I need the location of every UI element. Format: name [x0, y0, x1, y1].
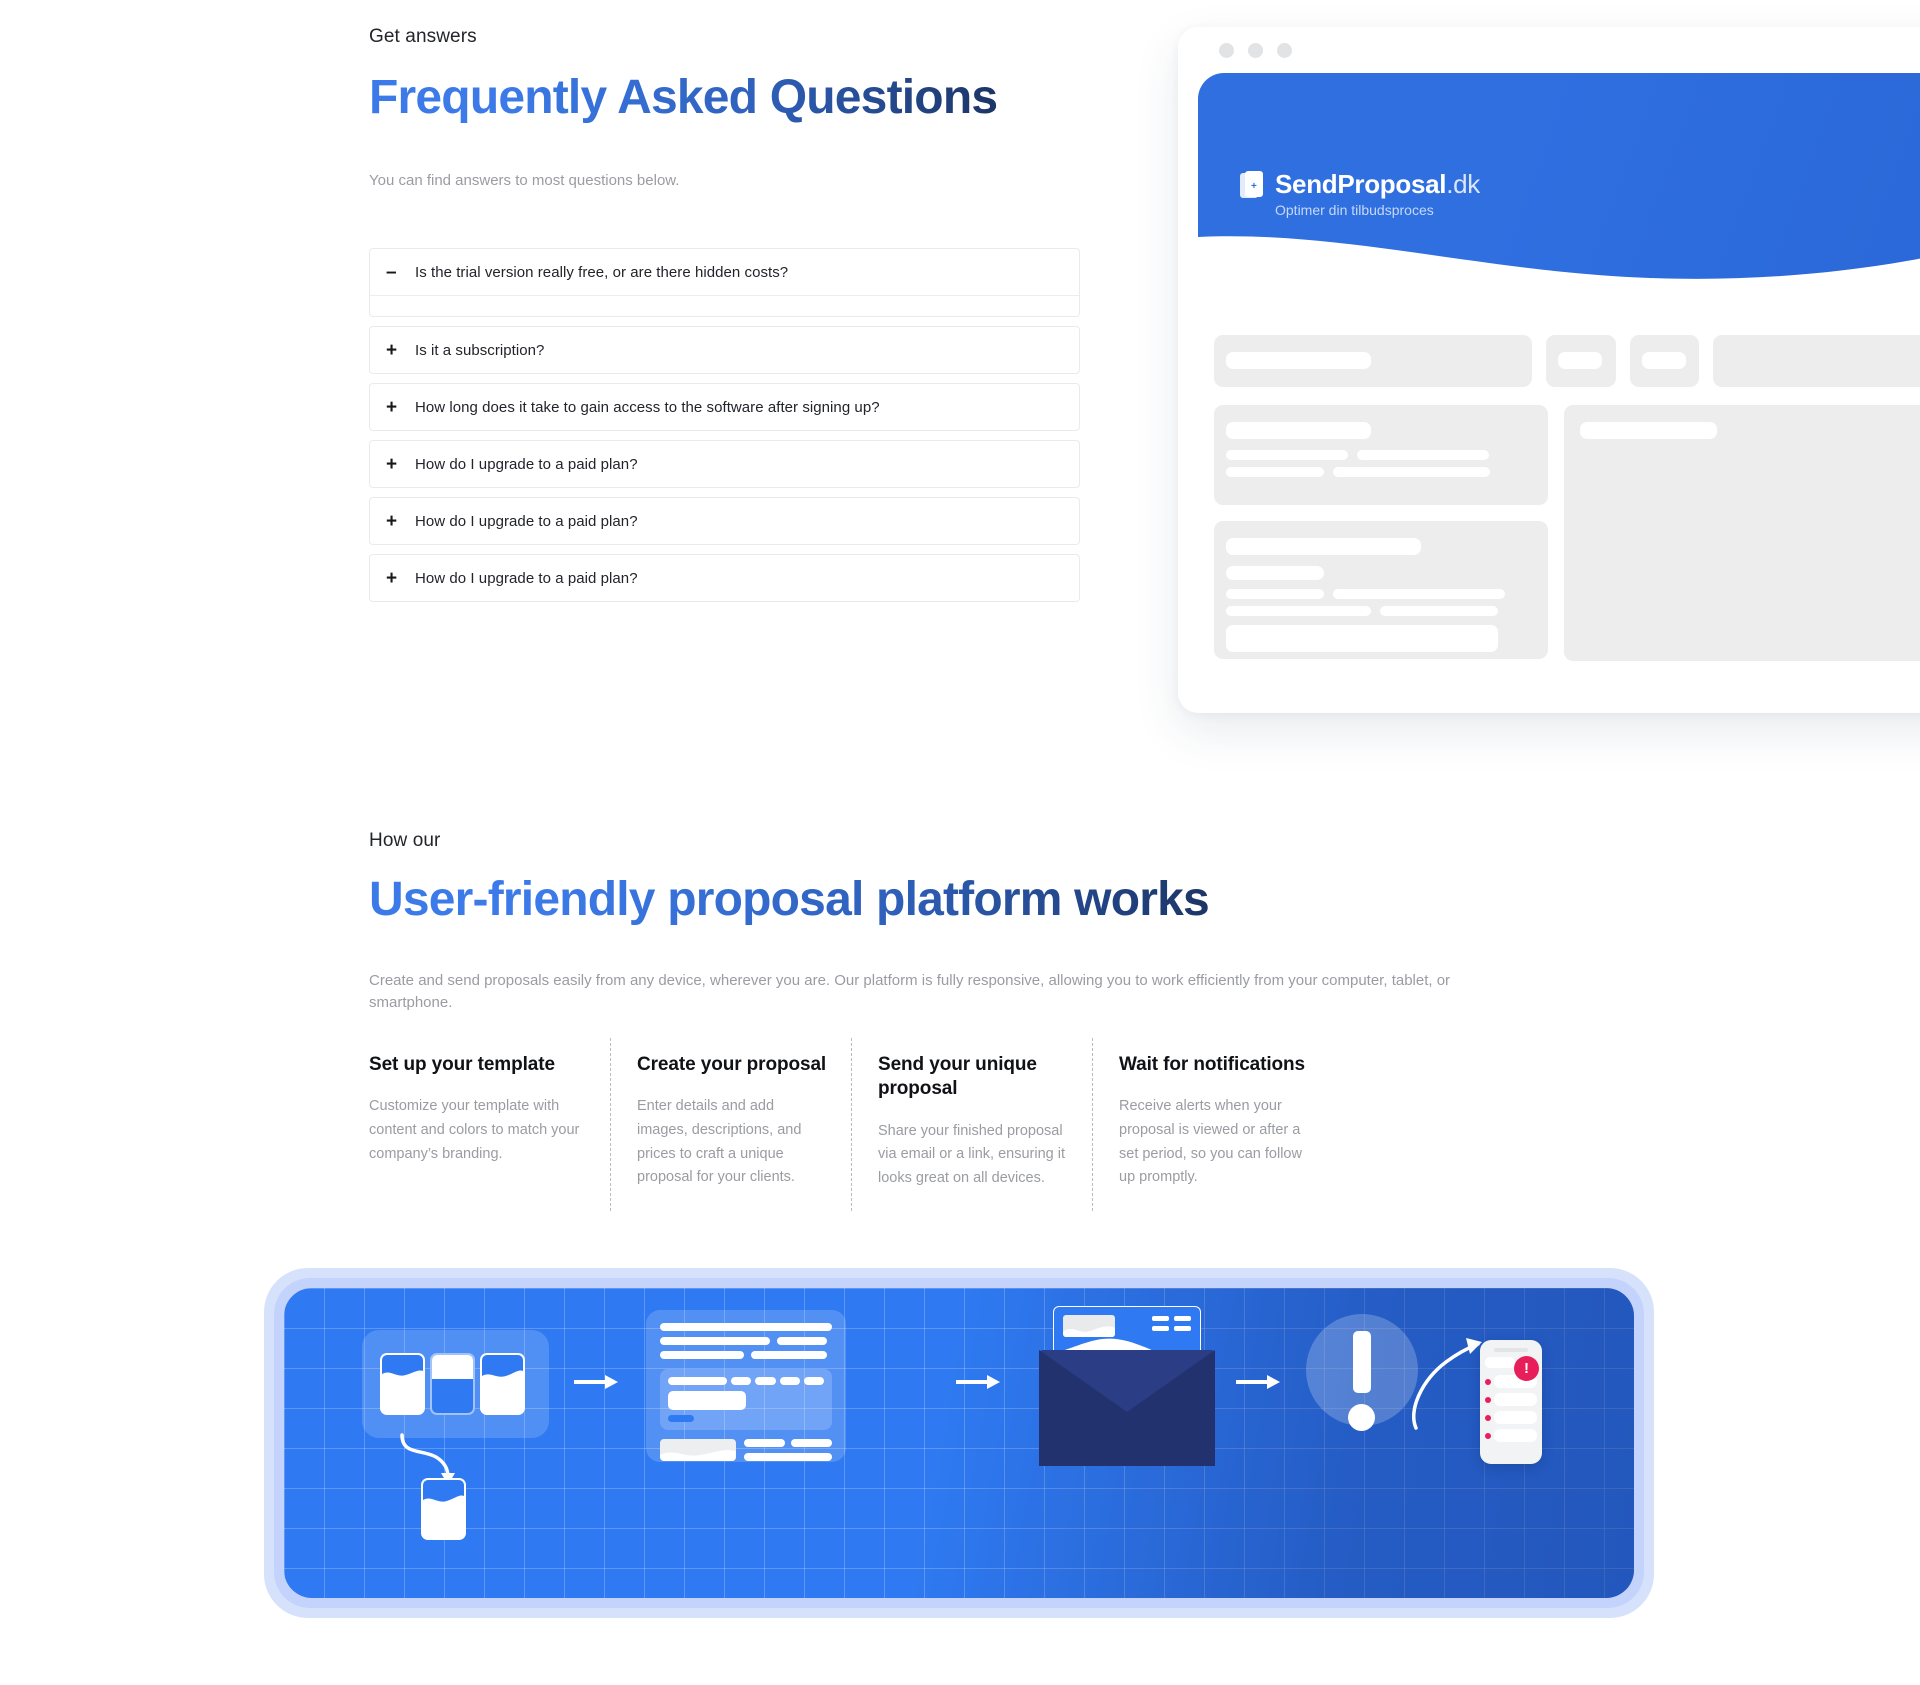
phone-header-bar: [1494, 1348, 1528, 1352]
window-dot-icon: [1277, 43, 1292, 58]
skeleton-search-box: [1214, 335, 1532, 387]
faq-item[interactable]: + How do I upgrade to a paid plan?: [369, 497, 1080, 545]
letter-image-thumb: [1063, 1315, 1115, 1337]
arrow-right-icon: [956, 1374, 1000, 1390]
step-column: Send your unique proposal Share your fin…: [851, 1053, 1092, 1191]
brand-tagline: Optimer din tilbudsproces: [1275, 202, 1480, 218]
faq-question-row[interactable]: + How do I upgrade to a paid plan?: [370, 555, 1079, 601]
faq-question-row[interactable]: + Is it a subscription?: [370, 327, 1079, 373]
how-subtitle: Create and send proposals easily from an…: [369, 970, 1529, 1014]
proposal-editor-card: [646, 1310, 846, 1462]
faq-answer-panel: [370, 295, 1079, 316]
template-card-icon: [380, 1353, 425, 1415]
workflow-stage: !: [284, 1288, 1634, 1598]
step-title: Create your proposal: [637, 1053, 827, 1077]
how-eyebrow: How our: [369, 830, 440, 852]
faq-accordion: – Is the trial version really free, or a…: [369, 248, 1080, 611]
skeleton-button: [1630, 335, 1700, 387]
faq-section: Get answers Frequently Asked Questions Y…: [0, 0, 1920, 760]
step-body: Share your finished proposal via email o…: [878, 1120, 1068, 1191]
faq-subtitle: You can find answers to most questions b…: [369, 172, 679, 189]
editor-action-button: [668, 1415, 694, 1422]
faq-question-row[interactable]: + How do I upgrade to a paid plan?: [370, 498, 1079, 544]
alert-badge-icon: !: [1514, 1356, 1539, 1381]
browser-mockup: + SendProposal.dk Optimer din tilbudspro…: [1178, 27, 1920, 713]
banner-canvas: !: [284, 1288, 1634, 1598]
window-dot-icon: [1219, 43, 1234, 58]
step-title: Set up your template: [369, 1053, 586, 1077]
envelope-illustration: [1039, 1306, 1215, 1466]
faq-item[interactable]: – Is the trial version really free, or a…: [369, 248, 1080, 317]
faq-question-label: How do I upgrade to a paid plan?: [415, 570, 638, 587]
step-column: Wait for notifications Receive alerts wh…: [1092, 1053, 1333, 1191]
app-content-skeleton: [1178, 293, 1920, 661]
faq-question-label: Is it a subscription?: [415, 342, 544, 359]
notification-dot-icon: [1485, 1379, 1491, 1385]
arrow-right-icon: [1236, 1374, 1280, 1390]
faq-question-label: How long does it take to gain access to …: [415, 399, 880, 416]
notification-phone: !: [1480, 1340, 1542, 1464]
notification-row: [1485, 1429, 1537, 1442]
plus-icon[interactable]: +: [386, 512, 404, 531]
banner-frame-inner: !: [274, 1278, 1644, 1608]
faq-question-row[interactable]: + How do I upgrade to a paid plan?: [370, 441, 1079, 487]
notification-dot-icon: [1485, 1415, 1491, 1421]
step-body: Receive alerts when your proposal is vie…: [1119, 1095, 1309, 1190]
skeleton-left-column: [1214, 405, 1548, 661]
plus-icon[interactable]: +: [386, 569, 404, 588]
faq-question-row[interactable]: – Is the trial version really free, or a…: [370, 249, 1079, 295]
skeleton-main-row: [1214, 405, 1920, 661]
envelope-flap: [1039, 1350, 1215, 1466]
notification-dot-icon: [1485, 1397, 1491, 1403]
document-plus-icon: +: [1240, 171, 1265, 200]
step-column: Create your proposal Enter details and a…: [610, 1053, 851, 1191]
step-column: Set up your template Customize your temp…: [369, 1053, 610, 1191]
faq-item[interactable]: + How do I upgrade to a paid plan?: [369, 440, 1080, 488]
plus-icon[interactable]: +: [386, 455, 404, 474]
step-body: Customize your template with content and…: [369, 1095, 586, 1166]
template-card-icon: [480, 1353, 525, 1415]
minus-icon[interactable]: –: [386, 263, 404, 282]
step-title: Wait for notifications: [1119, 1053, 1309, 1077]
faq-question-label: Is the trial version really free, or are…: [415, 264, 788, 281]
skeleton-toolbar-row: [1214, 335, 1920, 387]
exclamation-mark-icon: [1353, 1331, 1371, 1393]
faq-item[interactable]: + How do I upgrade to a paid plan?: [369, 554, 1080, 602]
phone-title-pill: [1485, 1357, 1515, 1368]
step-body: Enter details and add images, descriptio…: [637, 1095, 827, 1190]
notification-row: [1485, 1411, 1537, 1424]
how-heading: User-friendly proposal platform works: [369, 872, 1209, 927]
skeleton-right-panel: [1564, 405, 1920, 661]
brand-text-block: SendProposal.dk Optimer din tilbudsproce…: [1275, 171, 1480, 218]
brand-tld: .dk: [1446, 169, 1480, 199]
faq-eyebrow: Get answers: [369, 26, 477, 48]
notification-row: [1485, 1393, 1537, 1406]
skeleton-button: [1713, 335, 1920, 387]
template-card-icon: [430, 1353, 475, 1415]
step-title: Send your unique proposal: [878, 1053, 1068, 1102]
exclamation-dot-icon: [1348, 1404, 1375, 1431]
arrow-right-icon: [574, 1374, 618, 1390]
notification-dot-icon: [1485, 1433, 1491, 1439]
skeleton-card: [1214, 521, 1548, 659]
skeleton-button: [1546, 335, 1616, 387]
faq-question-row[interactable]: + How long does it take to gain access t…: [370, 384, 1079, 430]
faq-question-label: How do I upgrade to a paid plan?: [415, 513, 638, 530]
template-group: [362, 1330, 549, 1438]
selected-template-card-icon: [421, 1478, 466, 1540]
browser-titlebar: [1178, 27, 1920, 73]
faq-item[interactable]: + How long does it take to gain access t…: [369, 383, 1080, 431]
workflow-illustration-banner: !: [264, 1268, 1654, 1618]
faq-question-label: How do I upgrade to a paid plan?: [415, 456, 638, 473]
faq-heading: Frequently Asked Questions: [369, 70, 997, 125]
steps-columns: Set up your template Customize your temp…: [369, 1053, 1549, 1191]
brand-name: SendProposal.dk: [1275, 169, 1480, 199]
letter-meta-lines: [1152, 1316, 1191, 1331]
app-brand: + SendProposal.dk Optimer din tilbudspro…: [1240, 171, 1480, 218]
page-root: Get answers Frequently Asked Questions Y…: [0, 0, 1920, 1685]
faq-item[interactable]: + Is it a subscription?: [369, 326, 1080, 374]
editor-field-group: [660, 1369, 832, 1430]
skeleton-card: [1214, 405, 1548, 505]
window-dot-icon: [1248, 43, 1263, 58]
plus-icon[interactable]: +: [386, 341, 404, 360]
plus-icon[interactable]: +: [386, 398, 404, 417]
app-hero-banner: + SendProposal.dk Optimer din tilbudspro…: [1198, 73, 1920, 293]
